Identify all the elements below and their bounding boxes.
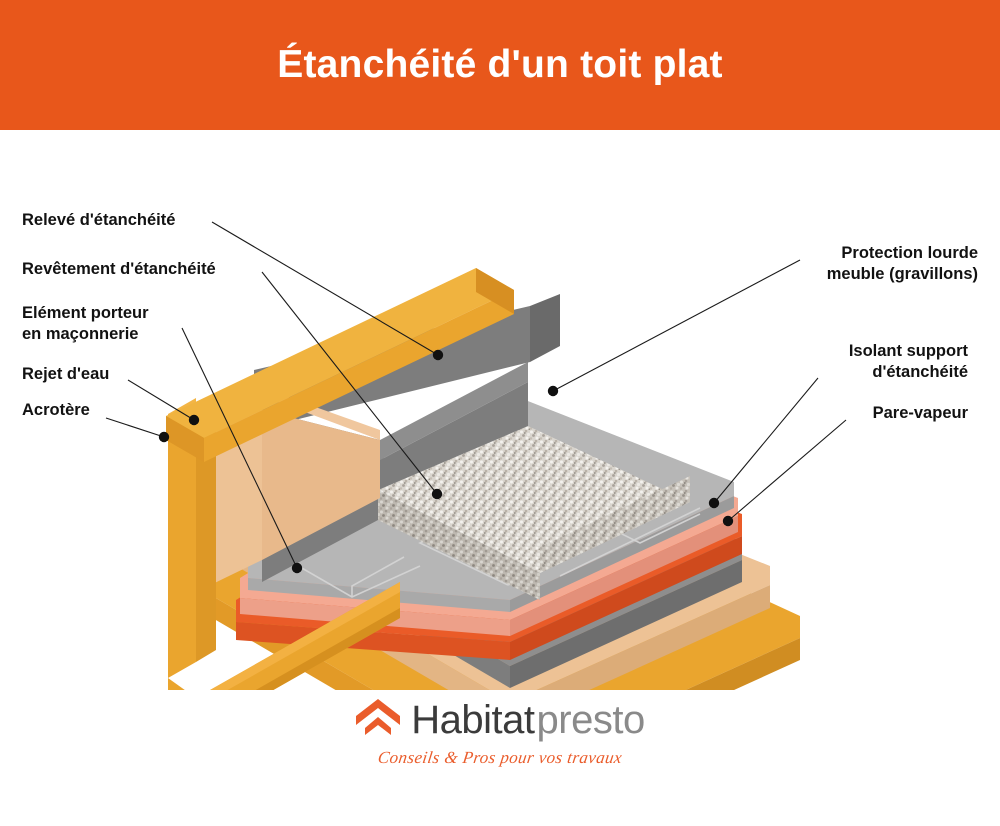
- label-element-porteur: Elément porteur en maçonnerie: [22, 303, 149, 345]
- logo-name-presto: presto: [537, 698, 645, 742]
- label-revetement-etancheite: Revêtement d'étanchéité: [22, 259, 216, 280]
- label-releve-etancheite: Relevé d'étanchéité: [22, 210, 175, 231]
- page-title: Étanchéité d'un toit plat: [0, 0, 1000, 130]
- label-rejet-deau: Rejet d'eau: [22, 364, 109, 385]
- header-banner: Étanchéité d'un toit plat: [0, 0, 1000, 130]
- logo-tagline: Conseils & Pros pour vos travaux: [377, 748, 624, 768]
- logo-row: Habitat presto: [355, 695, 644, 744]
- label-protection-lourde: Protection lourde meuble (gravillons): [827, 243, 978, 285]
- label-pare-vapeur: Pare-vapeur: [873, 403, 968, 424]
- label-acrotere: Acrotère: [22, 400, 90, 421]
- logo-name-habitat: Habitat: [411, 698, 534, 742]
- brand-logo: Habitat presto Conseils & Pros pour vos …: [0, 695, 1000, 805]
- chevron-house-icon: [355, 695, 401, 744]
- infographic-page: Étanchéité d'un toit plat: [0, 0, 1000, 826]
- label-isolant-support: Isolant support d'étanchéité: [849, 341, 968, 383]
